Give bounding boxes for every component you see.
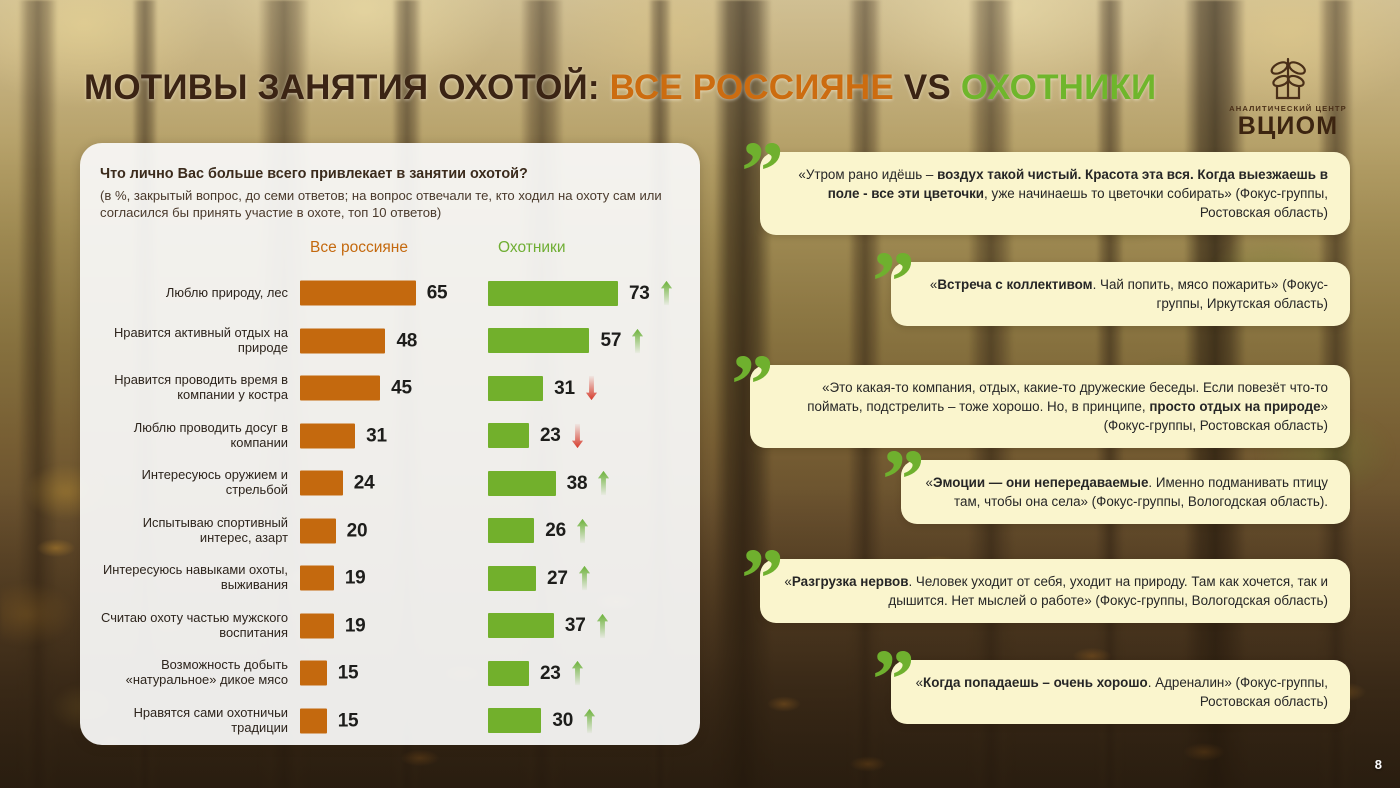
bar-group-hunters: 57 (488, 328, 644, 354)
quote-mark-icon: ” (741, 128, 784, 214)
row-category-label: Считаю охоту частью мужского воспитания (100, 611, 298, 641)
quote-text-4: «Эмоции — они непередаваемые. Именно под… (926, 475, 1328, 509)
quote-text-1: «Утром рано идёшь – воздух такой чистый.… (798, 167, 1328, 220)
bar-group-hunters: 38 (488, 470, 610, 496)
bar-group-hunters: 23 (488, 423, 584, 449)
bar-group-hunters: 27 (488, 565, 591, 591)
quote-card-3: «Это какая-то компания, отдых, какие-то … (750, 365, 1350, 448)
bar-group-hunters: 73 (488, 280, 673, 306)
bar-all-russians (300, 423, 355, 448)
bar-value-hunters: 38 (567, 474, 588, 493)
bar-group-hunters: 23 (488, 660, 584, 686)
row-category-label: Интересуюсь оружием и стрельбой (100, 468, 298, 498)
bar-value-all-russians: 48 (396, 331, 417, 350)
row-category-label: Возможность добыть «натуральное» дикое м… (100, 658, 298, 688)
row-bars: 6573 (298, 270, 680, 318)
bar-value-all-russians: 65 (427, 284, 448, 303)
bar-hunters (488, 281, 618, 306)
quote-card-5: «Разгрузка нервов. Человек уходит от себ… (760, 559, 1350, 623)
bar-all-russians (300, 376, 380, 401)
chart-question: Что лично Вас больше всего привлекает в … (100, 165, 680, 184)
bar-all-russians (300, 471, 343, 496)
bar-group-all-russians: 15 (300, 661, 358, 686)
chart-panel: Что лично Вас больше всего привлекает в … (80, 143, 700, 745)
row-category-label: Нравится проводить время в компании у ко… (100, 373, 298, 403)
title-part-vs: VS (904, 68, 951, 107)
row-category-label: Испытываю спортивный интерес, азарт (100, 516, 298, 546)
chart-row: Нравится активный отдых на природе4857 (100, 317, 680, 365)
bar-all-russians (300, 708, 327, 733)
bar-group-all-russians: 20 (300, 518, 367, 543)
row-bars: 1927 (298, 555, 680, 603)
row-category-label: Люблю природу, лес (100, 286, 298, 301)
bar-group-hunters: 31 (488, 375, 598, 401)
quote-card-2: «Встреча с коллективом. Чай попить, мясо… (891, 262, 1350, 326)
quote-mark-icon: ” (882, 436, 925, 522)
bar-hunters (488, 471, 556, 496)
bar-hunters (488, 708, 541, 733)
bar-value-hunters: 31 (554, 379, 575, 398)
legend-all-russians: Все россияне (310, 239, 408, 257)
bar-value-all-russians: 15 (338, 711, 359, 730)
bar-group-all-russians: 45 (300, 376, 412, 401)
bar-value-hunters: 30 (552, 711, 573, 730)
bar-all-russians (300, 328, 385, 353)
tree-icon (1257, 52, 1319, 102)
row-bars: 1530 (298, 697, 680, 745)
legend-hunters: Охотники (498, 239, 566, 257)
vciom-logo: АНАЛИТИЧЕСКИЙ ЦЕНТР ВЦИОМ (1228, 52, 1348, 139)
row-bars: 2438 (298, 460, 680, 508)
row-category-label: Люблю проводить досуг в компании (100, 421, 298, 451)
title-part-orange: ВСЕ РОССИЯНЕ (610, 68, 894, 107)
trend-up-icon (583, 708, 596, 734)
bar-hunters (488, 423, 529, 448)
quote-text-2: «Встреча с коллективом. Чай попить, мясо… (930, 277, 1328, 311)
trend-up-icon (597, 470, 610, 496)
chart-row: Интересуюсь навыками охоты, выживания192… (100, 555, 680, 603)
bar-group-all-russians: 19 (300, 566, 366, 591)
row-category-label: Интересуюсь навыками охоты, выживания (100, 563, 298, 593)
bar-value-hunters: 27 (547, 569, 568, 588)
bar-group-hunters: 26 (488, 518, 589, 544)
trend-up-icon (571, 660, 584, 686)
bar-all-russians (300, 518, 336, 543)
bar-hunters (488, 661, 529, 686)
bar-hunters (488, 613, 554, 638)
bar-value-all-russians: 45 (391, 379, 412, 398)
row-bars: 4531 (298, 365, 680, 413)
chart-row: Люблю природу, лес6573 (100, 270, 680, 318)
quote-mark-icon: ” (872, 238, 915, 324)
quote-text-3: «Это какая-то компания, отдых, какие-то … (807, 380, 1328, 433)
chart-row: Считаю охоту частью мужского воспитания1… (100, 602, 680, 650)
chart-legend: Все россияне Охотники (100, 239, 680, 269)
chart-row: Нравятся сами охотничьи традиции1530 (100, 697, 680, 745)
logo-name: ВЦИОМ (1228, 114, 1348, 139)
row-bars: 2026 (298, 507, 680, 555)
bar-value-hunters: 23 (540, 664, 561, 683)
bar-value-all-russians: 15 (338, 664, 359, 683)
trend-up-icon (576, 518, 589, 544)
chart-row: Нравится проводить время в компании у ко… (100, 365, 680, 413)
bar-group-all-russians: 24 (300, 471, 374, 496)
title-part-main: МОТИВЫ ЗАНЯТИЯ ОХОТОЙ: (84, 68, 600, 107)
bar-hunters (488, 328, 589, 353)
bar-group-all-russians: 15 (300, 708, 358, 733)
trend-up-icon (660, 280, 673, 306)
bar-value-hunters: 37 (565, 616, 586, 635)
chart-row: Возможность добыть «натуральное» дикое м… (100, 650, 680, 698)
page-title: МОТИВЫ ЗАНЯТИЯ ОХОТОЙ: ВСЕ РОССИЯНЕ VS О… (84, 68, 1156, 108)
bar-group-all-russians: 65 (300, 281, 447, 306)
trend-down-icon (571, 423, 584, 449)
bar-value-hunters: 26 (545, 521, 566, 540)
bar-group-hunters: 37 (488, 613, 609, 639)
row-bars: 1937 (298, 602, 680, 650)
quote-card-4: «Эмоции — они непередаваемые. Именно под… (901, 460, 1350, 524)
bar-hunters (488, 518, 534, 543)
chart-note: (в %, закрытый вопрос, до семи ответов; … (100, 187, 680, 222)
bar-value-all-russians: 24 (354, 474, 375, 493)
chart-row: Люблю проводить досуг в компании3123 (100, 412, 680, 460)
bar-group-all-russians: 31 (300, 423, 387, 448)
bar-value-all-russians: 20 (347, 521, 368, 540)
row-bars: 4857 (298, 317, 680, 365)
bar-value-all-russians: 31 (366, 426, 387, 445)
quote-card-1: «Утром рано идёшь – воздух такой чистый.… (760, 152, 1350, 235)
chart-rows: Люблю природу, лес6573Нравится активный … (100, 270, 680, 745)
row-category-label: Нравятся сами охотничьи традиции (100, 706, 298, 736)
bar-hunters (488, 566, 536, 591)
bar-all-russians (300, 661, 327, 686)
bar-group-hunters: 30 (488, 708, 596, 734)
chart-row: Интересуюсь оружием и стрельбой2438 (100, 460, 680, 508)
quote-card-6: «Когда попадаешь – очень хорошо. Адренал… (891, 660, 1350, 724)
trend-up-icon (631, 328, 644, 354)
quote-mark-icon: ” (872, 636, 915, 722)
trend-up-icon (596, 613, 609, 639)
trend-down-icon (585, 375, 598, 401)
title-part-green: ОХОТНИКИ (961, 68, 1156, 107)
trend-up-icon (578, 565, 591, 591)
bar-value-hunters: 73 (629, 284, 650, 303)
chart-row: Испытываю спортивный интерес, азарт2026 (100, 507, 680, 555)
quote-text-6: «Когда попадаешь – очень хорошо. Адренал… (916, 675, 1328, 709)
bar-group-all-russians: 48 (300, 328, 417, 353)
quote-mark-icon: ” (741, 535, 784, 621)
bar-value-hunters: 23 (540, 426, 561, 445)
bar-value-all-russians: 19 (345, 616, 366, 635)
row-category-label: Нравится активный отдых на природе (100, 326, 298, 356)
bar-all-russians (300, 613, 334, 638)
bar-value-all-russians: 19 (345, 569, 366, 588)
bar-all-russians (300, 566, 334, 591)
bar-all-russians (300, 281, 416, 306)
row-bars: 1523 (298, 650, 680, 698)
quote-text-5: «Разгрузка нервов. Человек уходит от себ… (784, 574, 1328, 608)
quote-mark-icon: ” (731, 341, 774, 427)
bar-value-hunters: 57 (600, 331, 621, 350)
bar-group-all-russians: 19 (300, 613, 366, 638)
page-number: 8 (1375, 757, 1382, 772)
bar-hunters (488, 376, 543, 401)
row-bars: 3123 (298, 412, 680, 460)
